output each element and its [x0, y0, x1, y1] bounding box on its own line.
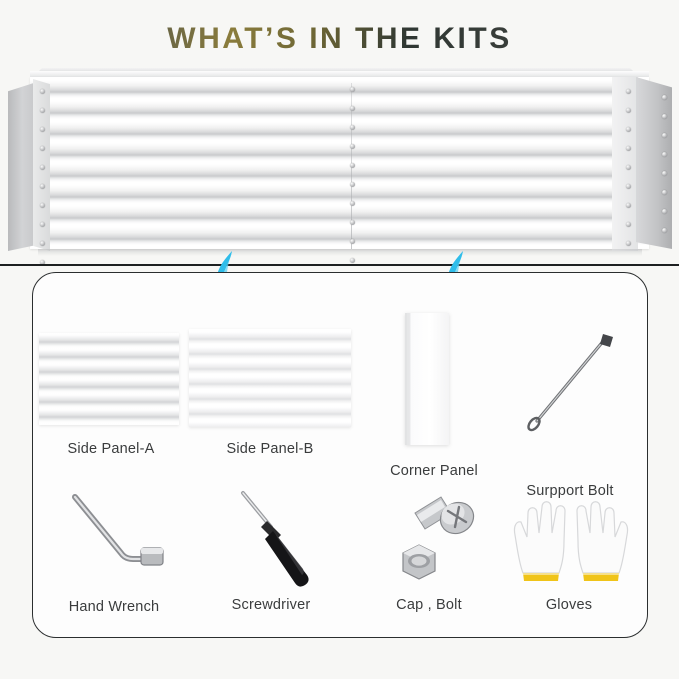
- kit-item-side-panel-b[interactable]: Side Panel-B: [185, 319, 355, 455]
- raised-garden-bed-image: [0, 63, 679, 263]
- bolt-dot: [350, 125, 355, 130]
- bolt-dot: [40, 222, 45, 227]
- bed-corrugated-body: [30, 77, 649, 249]
- kit-item-support-bolt[interactable]: Surpport Bolt: [495, 317, 645, 457]
- bolt-dot: [350, 106, 355, 111]
- bolt-dot: [626, 146, 631, 151]
- bolt-dot: [662, 190, 667, 195]
- bolt-dot: [662, 152, 667, 157]
- bolt-dot: [40, 184, 45, 189]
- bolt-dot: [626, 165, 631, 170]
- corner-panel-icon: [405, 313, 449, 445]
- bolt-dot: [662, 133, 667, 138]
- bolt-dot: [350, 201, 355, 206]
- page-title: WHAT’S IN THE KITS: [0, 22, 679, 56]
- bolt-dot: [662, 114, 667, 119]
- cap-bolt-icon: [385, 491, 495, 596]
- kit-parts-card: Side Panel-A Side Panel-B Corner Panel S…: [32, 272, 648, 638]
- infographic-page: WHAT’S IN THE KITS: [0, 0, 679, 679]
- kit-item-side-panel-a[interactable]: Side Panel-A: [37, 325, 185, 455]
- gloves-icon: [501, 489, 641, 594]
- hand-wrench-icon: [63, 491, 173, 586]
- bolt-dot: [626, 222, 631, 227]
- bolt-column-right-outer: [662, 95, 668, 247]
- bolt-dot: [40, 108, 45, 113]
- bolt-dot: [40, 89, 45, 94]
- divider-line: [0, 264, 679, 266]
- bolt-dot: [350, 239, 355, 244]
- bolt-dot: [40, 127, 45, 132]
- kit-item-label: Screwdriver: [193, 597, 349, 613]
- kit-item-corner-panel[interactable]: Corner Panel: [359, 297, 509, 457]
- bolt-dot: [350, 87, 355, 92]
- kit-item-hand-wrench[interactable]: Hand Wrench: [39, 491, 189, 617]
- bolt-column-right-inner: [626, 89, 632, 260]
- bolt-dot: [40, 203, 45, 208]
- bolt-dot: [350, 182, 355, 187]
- bolt-dot: [350, 258, 355, 263]
- support-bolt-icon: [515, 325, 625, 440]
- bolt-dot: [662, 171, 667, 176]
- bolt-dot: [626, 108, 631, 113]
- bolt-dot: [40, 165, 45, 170]
- bolt-dot: [350, 144, 355, 149]
- bolt-dot: [350, 163, 355, 168]
- bed-corner-right-face: [612, 77, 638, 251]
- kit-item-cap-bolt[interactable]: Cap , Bolt: [349, 489, 509, 617]
- kit-item-label: Side Panel-B: [185, 441, 355, 457]
- side-panel-b-icon: [189, 329, 351, 427]
- bolt-dot: [40, 241, 45, 246]
- bolt-dot: [662, 95, 667, 100]
- kit-item-label: Cap , Bolt: [349, 597, 509, 613]
- kit-item-screwdriver[interactable]: Screwdriver: [193, 485, 349, 617]
- kit-item-gloves[interactable]: Gloves: [491, 485, 647, 617]
- bolt-dot: [626, 89, 631, 94]
- bed-shadow: [38, 249, 642, 256]
- kit-item-label: Corner Panel: [359, 463, 509, 479]
- bolt-dot: [626, 241, 631, 246]
- bolt-dot: [662, 209, 667, 214]
- bolt-dot: [350, 220, 355, 225]
- side-panel-a-icon: [39, 333, 179, 425]
- bolt-dot: [40, 146, 45, 151]
- bolt-dot: [626, 127, 631, 132]
- kit-item-label: Gloves: [491, 597, 647, 613]
- kit-item-label: Hand Wrench: [39, 599, 189, 615]
- bolt-dot: [662, 228, 667, 233]
- kit-item-label: Side Panel-A: [37, 441, 185, 457]
- bolt-dot: [626, 203, 631, 208]
- screwdriver-icon: [231, 489, 341, 594]
- bolt-dot: [626, 184, 631, 189]
